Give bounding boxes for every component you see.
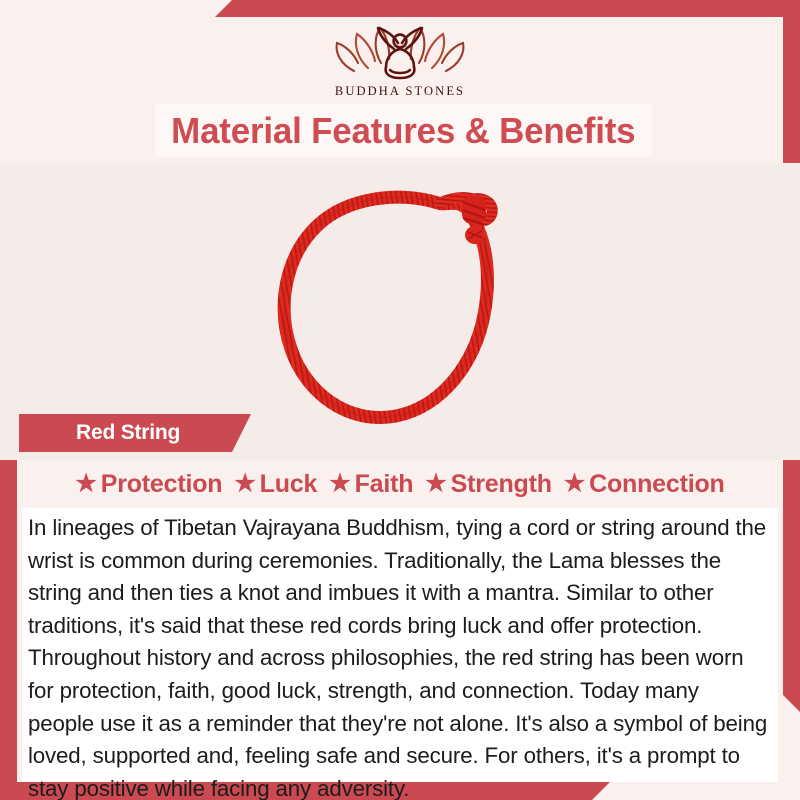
product-label-text: Red String [76, 421, 180, 445]
star-icon: ★ [329, 472, 350, 496]
feature-item: ★ Faith [323, 470, 419, 499]
page-title-text: Material Features & Benefits [171, 113, 635, 149]
description-text: In lineages of Tibetan Vajrayana Buddhis… [28, 512, 770, 800]
feature-label: Strength [451, 470, 552, 499]
features-list: ★ Protection ★ Luck ★ Faith ★ Strength ★… [0, 462, 800, 506]
feature-label: Faith [355, 470, 414, 499]
page-title: Material Features & Benefits [155, 104, 652, 157]
brand-name: BUDDHA STONES [0, 84, 800, 99]
feature-item: ★ Protection [69, 470, 228, 499]
description-panel: In lineages of Tibetan Vajrayana Buddhis… [22, 508, 778, 782]
feature-item: ★ Connection [558, 470, 731, 499]
lotus-meditation-icon [324, 16, 476, 82]
star-icon: ★ [425, 472, 446, 496]
feature-label: Connection [589, 470, 725, 499]
feature-item: ★ Strength [419, 470, 558, 499]
product-label-banner: Red String [19, 414, 251, 452]
feature-label: Luck [260, 470, 318, 499]
star-icon: ★ [75, 472, 96, 496]
feature-label: Protection [101, 470, 223, 499]
star-icon: ★ [564, 472, 585, 496]
brand-logo: BUDDHA STONES [0, 16, 800, 99]
decorative-top-band [215, 0, 800, 17]
infographic-poster: BUDDHA STONES Material Features & Benefi… [0, 0, 800, 800]
star-icon: ★ [234, 472, 255, 496]
red-string-bracelet-image [270, 163, 530, 460]
feature-item: ★ Luck [228, 470, 323, 499]
